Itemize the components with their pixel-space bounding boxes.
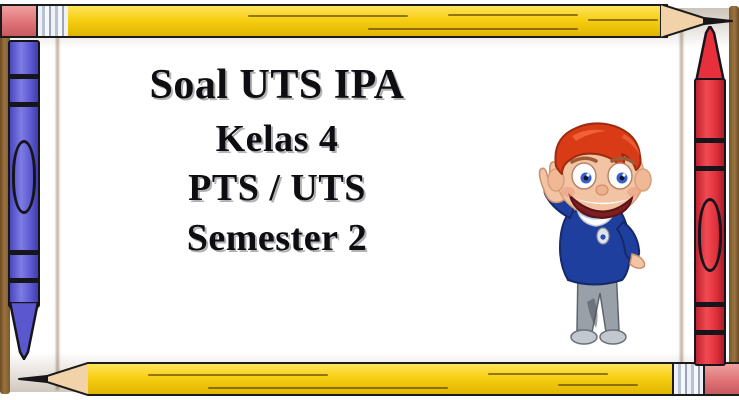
scroll-right-edge: [729, 6, 739, 394]
title-line-1: Soal UTS IPA: [62, 64, 492, 108]
crayon-ring: [694, 138, 726, 143]
crayon-ring: [8, 278, 40, 283]
scroll-right-crease: [680, 10, 683, 390]
crayon-ring: [8, 74, 40, 79]
title-line-2: Kelas 4: [62, 120, 492, 160]
poster-canvas: Soal UTS IPA Kelas 4 PTS / UTS Semester …: [0, 0, 739, 400]
red-crayon-vertical-right: [694, 26, 726, 366]
pencil-body: [88, 362, 674, 396]
pencil-eraser-icon: [703, 362, 739, 396]
pencil-ferrule-icon: [672, 362, 706, 396]
yellow-pencil-horizontal-bottom: [0, 362, 739, 396]
scroll-left-crease: [56, 10, 59, 390]
boy-shoe: [600, 330, 626, 344]
crayon-ring: [694, 166, 726, 171]
pencil-body: [68, 4, 668, 38]
title-line-4: Semester 2: [62, 219, 492, 259]
boy-nose: [596, 185, 608, 195]
cartoon-boy-waving: [520, 118, 670, 366]
blue-crayon-vertical-left: [8, 40, 40, 360]
pencil-wood-tip-icon: [12, 362, 91, 396]
title-line-3: PTS / UTS: [62, 169, 492, 209]
crayon-ring: [8, 250, 40, 255]
crayon-ring: [694, 330, 726, 335]
pencil-eraser-icon: [0, 4, 38, 38]
yellow-pencil-horizontal-top: [0, 4, 739, 38]
pencil-ferrule-icon: [36, 4, 70, 38]
poster-title: Soal UTS IPA Kelas 4 PTS / UTS Semester …: [62, 64, 492, 258]
crayon-tip-icon: [694, 26, 726, 82]
boy-shoe: [571, 330, 597, 344]
crayon-tip-icon: [8, 302, 40, 360]
crayon-label-oval: [12, 140, 36, 214]
crayon-ring: [8, 102, 40, 107]
boy-hand-down: [630, 254, 645, 268]
crayon-ring: [694, 302, 726, 307]
crayon-label-oval: [698, 198, 722, 272]
